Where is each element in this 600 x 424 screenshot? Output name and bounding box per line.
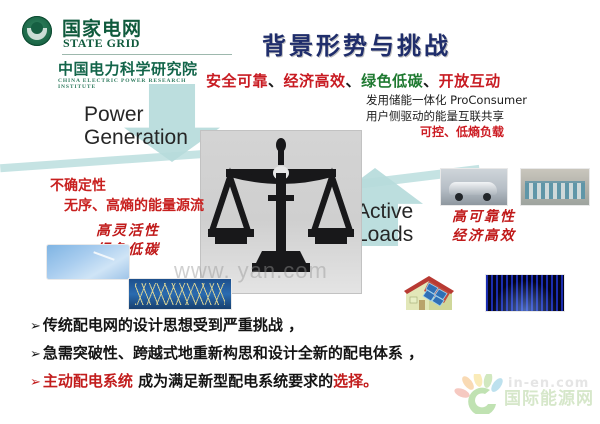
slide-title: 背景形势与挑战 bbox=[262, 26, 451, 61]
proconsumer-annotation: 发用储能一体化 ProConsumer 用户侧驱动的能量互联共享 可控、低熵负载 bbox=[366, 92, 594, 141]
leaf-petals-icon bbox=[452, 374, 512, 414]
subtitle-part-2: 经济高效 bbox=[284, 72, 346, 90]
bullet-text-1: 传统配电网的设计思想受到严重挑战 ， bbox=[43, 316, 303, 334]
uncertainty-annotation: 不确定性 无序、高熵的能量源流 bbox=[50, 176, 250, 216]
left-handwritten-line-1: 高灵活性 bbox=[96, 222, 160, 241]
right-handwritten-line-1: 高可靠性 bbox=[452, 208, 516, 227]
transmission-tower-photo bbox=[128, 278, 232, 310]
brand-name-en: STATE GRID bbox=[63, 36, 140, 51]
electric-car-photo bbox=[440, 168, 508, 206]
wind-farm-photo bbox=[46, 244, 130, 280]
proconsumer-line-1: 发用储能一体化 ProConsumer bbox=[366, 92, 594, 108]
bullet-text-3-middle: 成为满足新型配电系统要求的 bbox=[133, 372, 333, 390]
institute-name-en: CHINA ELECTRIC POWER RESEARCH INSTITUTE bbox=[58, 78, 222, 90]
bullet-text-3-end: 。 bbox=[363, 372, 378, 390]
presentation-slide: 国家电网 STATE GRID 中国电力科学研究院 CHINA ELECTRIC… bbox=[0, 0, 600, 424]
state-grid-emblem-icon bbox=[22, 16, 52, 46]
state-grid-logo-block: 国家电网 STATE GRID 中国电力科学研究院 CHINA ELECTRIC… bbox=[22, 12, 222, 92]
power-generation-label-line1: Power bbox=[84, 103, 264, 126]
subtitle-part-4: 开放互动 bbox=[439, 72, 501, 90]
data-center-photo bbox=[485, 274, 565, 312]
right-handwritten-annotation: 高可靠性 经济高效 bbox=[452, 208, 516, 246]
subtitle-sep-1: 、 bbox=[268, 72, 284, 90]
bullet-text-3-prefix: 主动配电系统 bbox=[43, 372, 133, 390]
bullet-marker-2: ➢ bbox=[30, 347, 43, 362]
uncertainty-line-1: 不确定性 bbox=[50, 176, 250, 196]
proconsumer-line-3: 可控、低熵负载 bbox=[366, 124, 594, 141]
bullet-marker-3: ➢ bbox=[30, 375, 43, 390]
battery-storage-photo bbox=[520, 168, 590, 206]
footer-watermark-text: 国际能源网 bbox=[504, 384, 594, 409]
institute-name-cn: 中国电力科学研究院 bbox=[58, 58, 198, 79]
subtitle-part-3: 绿色低碳 bbox=[361, 72, 423, 90]
solar-house-illustration bbox=[400, 270, 458, 314]
subtitle-part-1: 安全可靠 bbox=[206, 72, 268, 90]
logo-divider bbox=[62, 54, 232, 55]
subtitle-sep-2: 、 bbox=[346, 72, 362, 90]
bullet-marker-1: ➢ bbox=[30, 319, 43, 334]
subtitle-sep-3: 、 bbox=[423, 72, 439, 90]
bullet-item-2: ➢急需突破性、跨越式地重新构思和设计全新的配电体系 ， bbox=[30, 340, 590, 368]
bullet-text-2: 急需突破性、跨越式地重新构思和设计全新的配电体系 ， bbox=[43, 344, 423, 362]
footer-watermark-logo: in-en.com 国际能源网 bbox=[452, 372, 600, 422]
slide-subtitle: 安全可靠、经济高效、绿色低碳、开放互动 bbox=[206, 70, 501, 91]
proconsumer-line-2: 用户侧驱动的能量互联共享 bbox=[366, 108, 594, 124]
right-handwritten-line-2: 经济高效 bbox=[452, 227, 516, 246]
bullet-text-3-suffix: 选择 bbox=[333, 372, 363, 390]
bullet-item-1: ➢传统配电网的设计思想受到严重挑战 ， bbox=[30, 312, 590, 340]
uncertainty-line-2: 无序、高熵的能量源流 bbox=[50, 196, 250, 216]
